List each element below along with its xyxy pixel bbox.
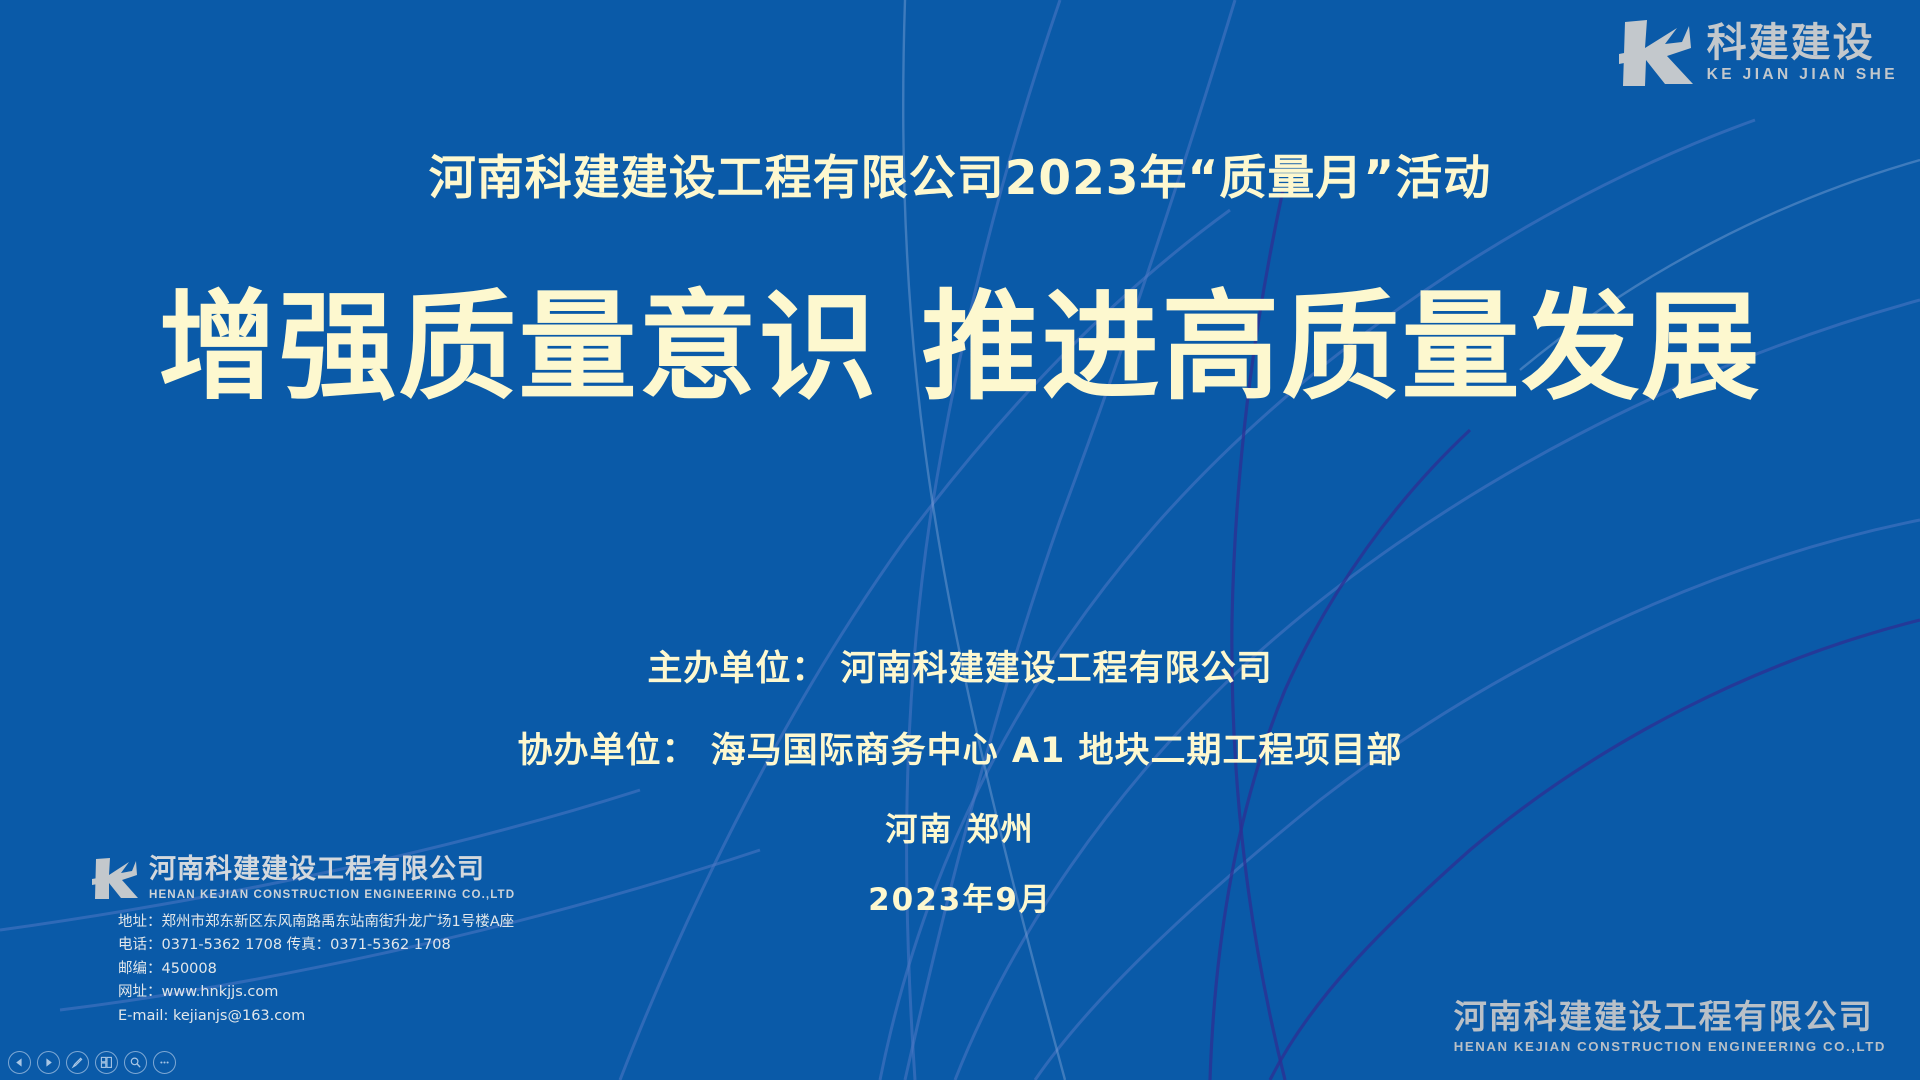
footer-company-name-cn: 河南科建建设工程有限公司 xyxy=(149,855,515,885)
place-line: 河南 郑州 xyxy=(0,804,1920,850)
slideshow-toolbar[interactable] xyxy=(6,1049,178,1076)
main-slogan: 增强质量意识 推进高质量发展 xyxy=(0,281,1920,413)
slide-overview-button[interactable] xyxy=(95,1051,118,1074)
co-organizer-line: 协办单位： 海马国际商务中心 A1 地块二期工程项目部 xyxy=(0,722,1920,773)
organizer-line: 主办单位： 河南科建建设工程有限公司 xyxy=(0,640,1920,691)
contact-email: E-mail: kejianjs@163.com xyxy=(118,1005,515,1028)
contact-website: 网址：www.hnkjjs.com xyxy=(118,981,515,1004)
previous-slide-button[interactable] xyxy=(8,1051,31,1074)
watermark-company-block: 河南科建建设工程有限公司 HENAN KEJIAN CONSTRUCTION E… xyxy=(1454,999,1886,1054)
brand-name-en: KE JIAN JIAN SHE xyxy=(1707,66,1898,85)
brand-logo-top: 科建建设 KE JIAN JIAN SHE xyxy=(1619,18,1898,88)
watermark-company-name-cn: 河南科建建设工程有限公司 xyxy=(1454,999,1886,1036)
pen-icon xyxy=(71,1056,84,1069)
k-arrow-logo-icon xyxy=(1619,18,1695,88)
triangle-left-icon xyxy=(14,1057,25,1068)
k-arrow-logo-icon xyxy=(92,856,140,900)
zoom-button[interactable] xyxy=(124,1051,147,1074)
event-subtitle: 河南科建建设工程有限公司2023年“质量月”活动 xyxy=(0,150,1920,209)
footer-logo-row: 河南科建建设工程有限公司 HENAN KEJIAN CONSTRUCTION E… xyxy=(92,855,515,902)
headline-block: 河南科建建设工程有限公司2023年“质量月”活动 增强质量意识 推进高质量发展 xyxy=(0,150,1920,413)
triangle-right-icon xyxy=(43,1057,54,1068)
magnifier-icon xyxy=(129,1056,142,1069)
more-options-button[interactable] xyxy=(153,1051,176,1074)
pen-annotate-button[interactable] xyxy=(66,1051,89,1074)
contact-address: 地址：郑州市郑东新区东风南路禹东站南街升龙广场1号楼A座 xyxy=(118,911,515,934)
contact-postcode: 邮编：450008 xyxy=(118,958,515,981)
ellipsis-icon xyxy=(158,1056,171,1069)
brand-name-cn: 科建建设 xyxy=(1707,22,1875,64)
footer-company-block: 河南科建建设工程有限公司 HENAN KEJIAN CONSTRUCTION E… xyxy=(92,855,515,1028)
grid-windows-icon xyxy=(100,1056,113,1069)
watermark-company-name-en: HENAN KEJIAN CONSTRUCTION ENGINEERING CO… xyxy=(1454,1039,1886,1054)
contact-phone-fax: 电话：0371-5362 1708 传真：0371-5362 1708 xyxy=(118,934,515,957)
next-slide-button[interactable] xyxy=(37,1051,60,1074)
presentation-slide: 科建建设 KE JIAN JIAN SHE 河南科建建设工程有限公司2023年“… xyxy=(0,0,1920,1080)
contact-list: 地址：郑州市郑东新区东风南路禹东站南街升龙广场1号楼A座 电话：0371-536… xyxy=(118,911,515,1028)
footer-company-name-en: HENAN KEJIAN CONSTRUCTION ENGINEERING CO… xyxy=(149,887,515,902)
